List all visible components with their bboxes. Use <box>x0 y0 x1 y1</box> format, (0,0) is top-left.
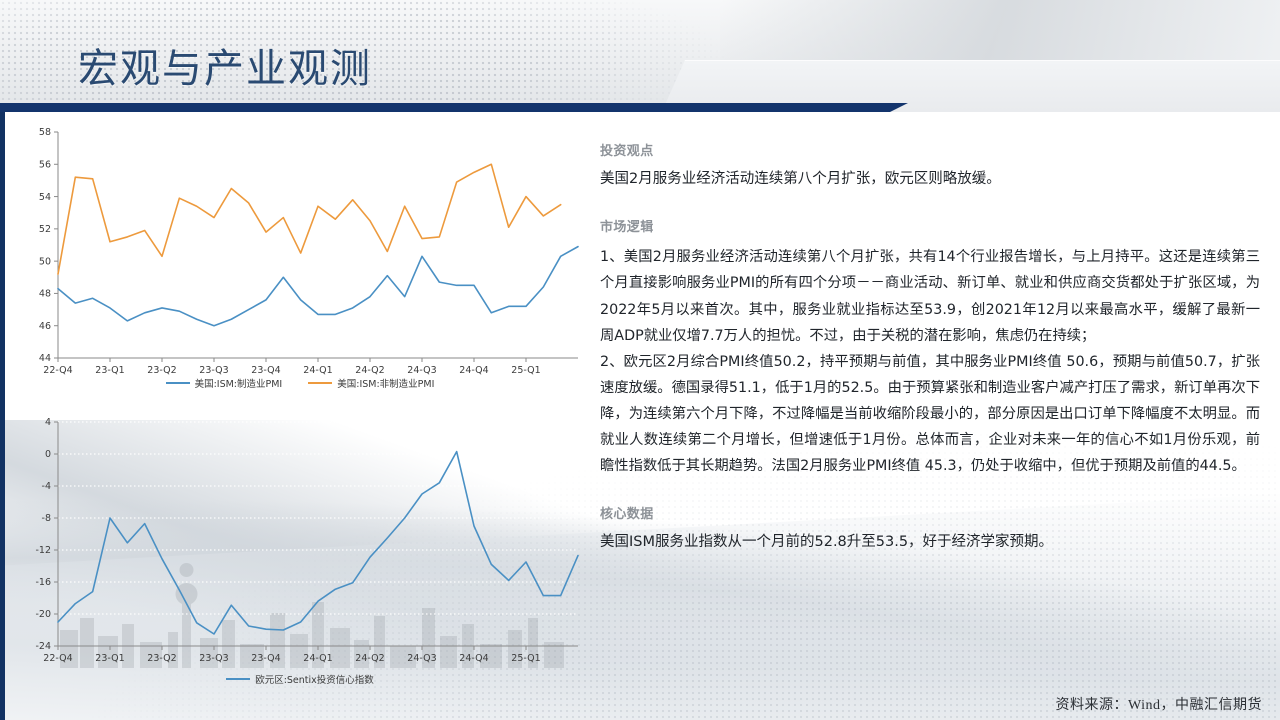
investment-view-heading: 投资观点 <box>600 140 1260 159</box>
svg-text:23-Q3: 23-Q3 <box>199 653 228 664</box>
svg-text:23-Q4: 23-Q4 <box>251 365 280 376</box>
chart-eurozone-sentix: -24-20-16-12-8-40422-Q423-Q123-Q223-Q323… <box>10 408 590 693</box>
legend-item: 美国:ISM:非制造业PMI <box>308 376 434 390</box>
svg-text:4: 4 <box>45 417 51 428</box>
svg-text:23-Q3: 23-Q3 <box>199 365 228 376</box>
svg-text:-8: -8 <box>42 513 51 524</box>
svg-text:24-Q2: 24-Q2 <box>355 365 384 376</box>
legend-swatch-manufacturing-icon <box>166 382 190 385</box>
svg-text:24-Q1: 24-Q1 <box>303 365 332 376</box>
svg-text:54: 54 <box>39 192 51 203</box>
chart-legend-us-ism-pmi: 美国:ISM:制造业PMI 美国:ISM:非制造业PMI <box>10 376 590 390</box>
svg-text:24-Q3: 24-Q3 <box>407 365 436 376</box>
legend-item: 欧元区:Sentix投资信心指数 <box>226 672 374 686</box>
svg-text:24-Q1: 24-Q1 <box>303 653 332 664</box>
svg-text:46: 46 <box>39 321 51 332</box>
svg-text:58: 58 <box>39 127 51 138</box>
investment-view-body: 美国2月服务业经济活动连续第八个月扩张，欧元区则略放缓。 <box>600 168 1260 190</box>
svg-text:50: 50 <box>39 256 51 267</box>
svg-text:23-Q1: 23-Q1 <box>95 653 124 664</box>
svg-text:-4: -4 <box>42 481 51 492</box>
svg-text:24-Q2: 24-Q2 <box>355 653 384 664</box>
chart-legend-eurozone-sentix: 欧元区:Sentix投资信心指数 <box>10 672 590 686</box>
svg-text:22-Q4: 22-Q4 <box>43 653 72 664</box>
svg-text:23-Q2: 23-Q2 <box>147 653 176 664</box>
svg-text:44: 44 <box>39 353 51 364</box>
legend-label-sentix: 欧元区:Sentix投资信心指数 <box>255 672 374 686</box>
legend-label-manufacturing: 美国:ISM:制造业PMI <box>195 376 283 390</box>
commentary-column: 投资观点 美国2月服务业经济活动连续第八个月扩张，欧元区则略放缓。 市场逻辑 1… <box>600 140 1260 579</box>
svg-text:23-Q4: 23-Q4 <box>251 653 280 664</box>
charts-column: 444648505254565822-Q423-Q123-Q223-Q323-Q… <box>10 120 590 700</box>
source-footer: 资料来源：Wind，中融汇信期货 <box>1055 694 1262 714</box>
svg-text:24-Q3: 24-Q3 <box>407 653 436 664</box>
slide-page: 宏观与产业观测 444648505254565822-Q423-Q123-Q22… <box>0 0 1280 720</box>
svg-text:24-Q4: 24-Q4 <box>459 653 488 664</box>
paragraph: 1、美国2月服务业经济活动连续第八个月扩张，共有14个行业报告增长，与上月持平。… <box>600 244 1260 348</box>
core-data-body: 美国ISM服务业指数从一个月前的52.8升至53.5，好于经济学家预期。 <box>600 531 1260 553</box>
svg-text:25-Q1: 25-Q1 <box>511 365 540 376</box>
market-logic-heading: 市场逻辑 <box>600 216 1260 235</box>
svg-text:23-Q1: 23-Q1 <box>95 365 124 376</box>
svg-text:-24: -24 <box>35 641 51 652</box>
chart-us-ism-pmi: 444648505254565822-Q423-Q123-Q223-Q323-Q… <box>10 120 590 405</box>
svg-text:24-Q4: 24-Q4 <box>459 365 488 376</box>
legend-swatch-sentix-icon <box>226 678 250 681</box>
svg-text:25-Q1: 25-Q1 <box>511 653 540 664</box>
svg-text:-20: -20 <box>35 609 51 620</box>
svg-text:0: 0 <box>45 449 51 460</box>
page-title: 宏观与产业观测 <box>78 36 372 94</box>
svg-text:52: 52 <box>39 224 51 235</box>
chart-canvas-us-ism-pmi: 444648505254565822-Q423-Q123-Q223-Q323-Q… <box>10 120 590 405</box>
svg-text:23-Q2: 23-Q2 <box>147 365 176 376</box>
header-navy-bar <box>0 103 890 112</box>
svg-text:-16: -16 <box>35 577 51 588</box>
svg-text:-12: -12 <box>35 545 51 556</box>
core-data-heading: 核心数据 <box>600 503 1260 522</box>
svg-text:22-Q4: 22-Q4 <box>43 365 72 376</box>
legend-swatch-nonmanufacturing-icon <box>308 382 332 385</box>
paragraph: 2、欧元区2月综合PMI终值50.2，持平预期与前值，其中服务业PMI终值 50… <box>600 349 1260 479</box>
svg-text:48: 48 <box>39 289 51 300</box>
market-logic-body: 1、美国2月服务业经济活动连续第八个月扩张，共有14个行业报告增长，与上月持平。… <box>600 244 1260 478</box>
svg-text:56: 56 <box>39 159 51 170</box>
slide-header: 宏观与产业观测 <box>0 0 1280 112</box>
legend-item: 美国:ISM:制造业PMI <box>166 376 283 390</box>
legend-label-nonmanufacturing: 美国:ISM:非制造业PMI <box>337 376 434 390</box>
chart-canvas-eurozone-sentix: -24-20-16-12-8-40422-Q423-Q123-Q223-Q323… <box>10 408 590 693</box>
